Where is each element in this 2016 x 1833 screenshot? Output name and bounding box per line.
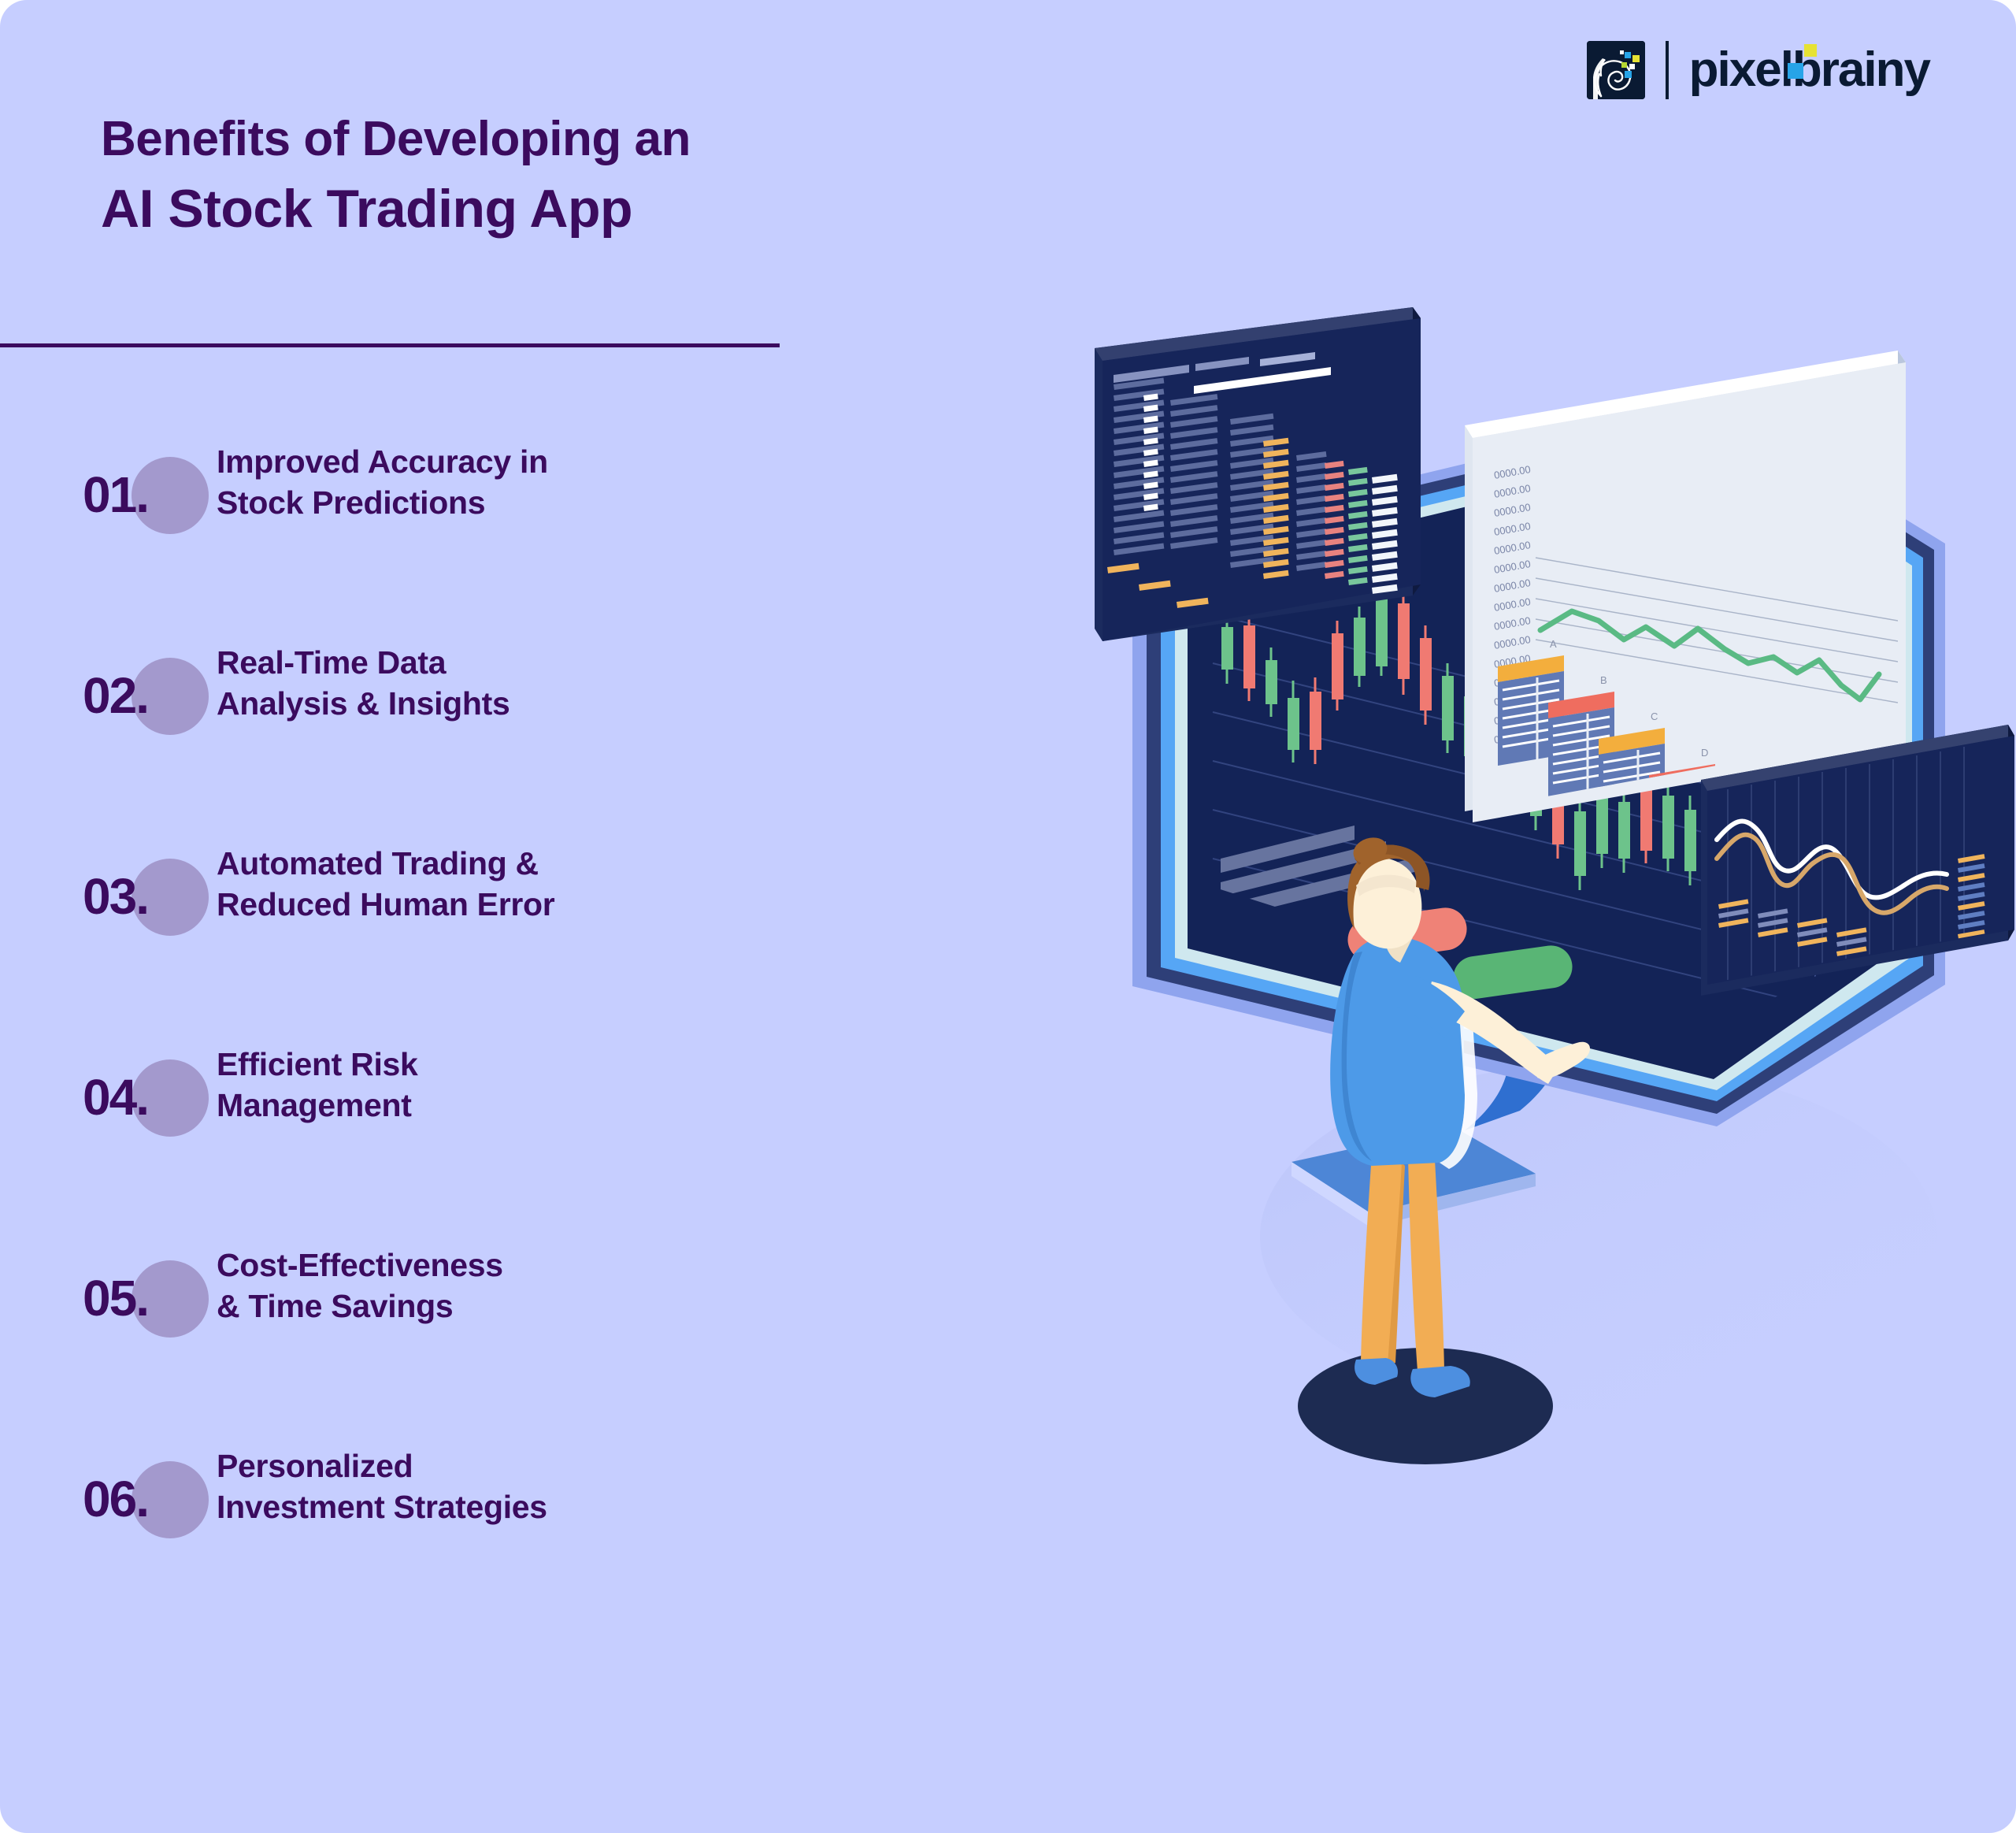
svg-text:C: C: [1651, 711, 1658, 722]
benefit-label: PersonalizedInvestment Strategies: [217, 1422, 547, 1528]
page-title: Benefits of Developing an AI Stock Tradi…: [101, 110, 691, 240]
benefit-label: Efficient RiskManagement: [217, 1020, 418, 1126]
benefit-number: 05.: [83, 1269, 148, 1327]
benefit-number: 01.: [83, 466, 148, 524]
benefit-number: 06.: [83, 1470, 148, 1528]
pixel-square-yellow-icon: [1804, 44, 1817, 57]
benefit-number-group: 03.: [83, 849, 217, 944]
benefit-number-group: 01.: [83, 447, 217, 542]
list-item: 02. Real-Time DataAnalysis & Insights: [83, 618, 870, 819]
svg-text:D: D: [1701, 747, 1708, 759]
benefit-number-group: 06.: [83, 1452, 217, 1546]
pixel-square-blue-icon: [1788, 63, 1803, 79]
title-line-1: Benefits of Developing an: [101, 110, 691, 168]
list-item: 01. Improved Accuracy inStock Prediction…: [83, 417, 870, 618]
benefit-number-group: 04.: [83, 1050, 217, 1145]
title-line-2: AI Stock Trading App: [101, 177, 691, 240]
brand-divider: [1666, 41, 1669, 99]
benefit-label: Cost-Effectiveness& Time Savings: [217, 1221, 503, 1327]
ticker-table-panel: [1095, 307, 1421, 641]
trading-dashboard-illustration: 0000.00 0000.00 0000.00 0000.00 0000.00 …: [1095, 307, 2016, 1599]
benefit-label: Improved Accuracy inStock Predictions: [217, 417, 548, 524]
benefit-label: Automated Trading &Reduced Human Error: [217, 819, 554, 926]
infographic-canvas: pixelbrainy Benefits of Developing an AI…: [0, 0, 2016, 1833]
benefit-number-group: 05.: [83, 1251, 217, 1345]
benefit-number: 02.: [83, 666, 148, 725]
brand-logo: pixelbrainy: [1587, 41, 1929, 99]
list-item: 04. Efficient RiskManagement: [83, 1020, 870, 1221]
brain-head-spiral-icon: [1587, 41, 1645, 99]
benefit-number-group: 02.: [83, 648, 217, 743]
benefit-number: 03.: [83, 867, 148, 926]
title-underline-divider: [0, 343, 780, 347]
list-item: 05. Cost-Effectiveness& Time Savings: [83, 1221, 870, 1422]
benefit-label: Real-Time DataAnalysis & Insights: [217, 618, 510, 725]
benefits-list: 01. Improved Accuracy inStock Prediction…: [83, 417, 870, 1623]
list-item: 06. PersonalizedInvestment Strategies: [83, 1422, 870, 1623]
benefit-number: 04.: [83, 1068, 148, 1126]
brand-name: pixelbrainy: [1689, 46, 1929, 95]
svg-text:A: A: [1550, 638, 1557, 650]
svg-text:B: B: [1600, 674, 1607, 686]
list-item: 03. Automated Trading &Reduced Human Err…: [83, 819, 870, 1020]
